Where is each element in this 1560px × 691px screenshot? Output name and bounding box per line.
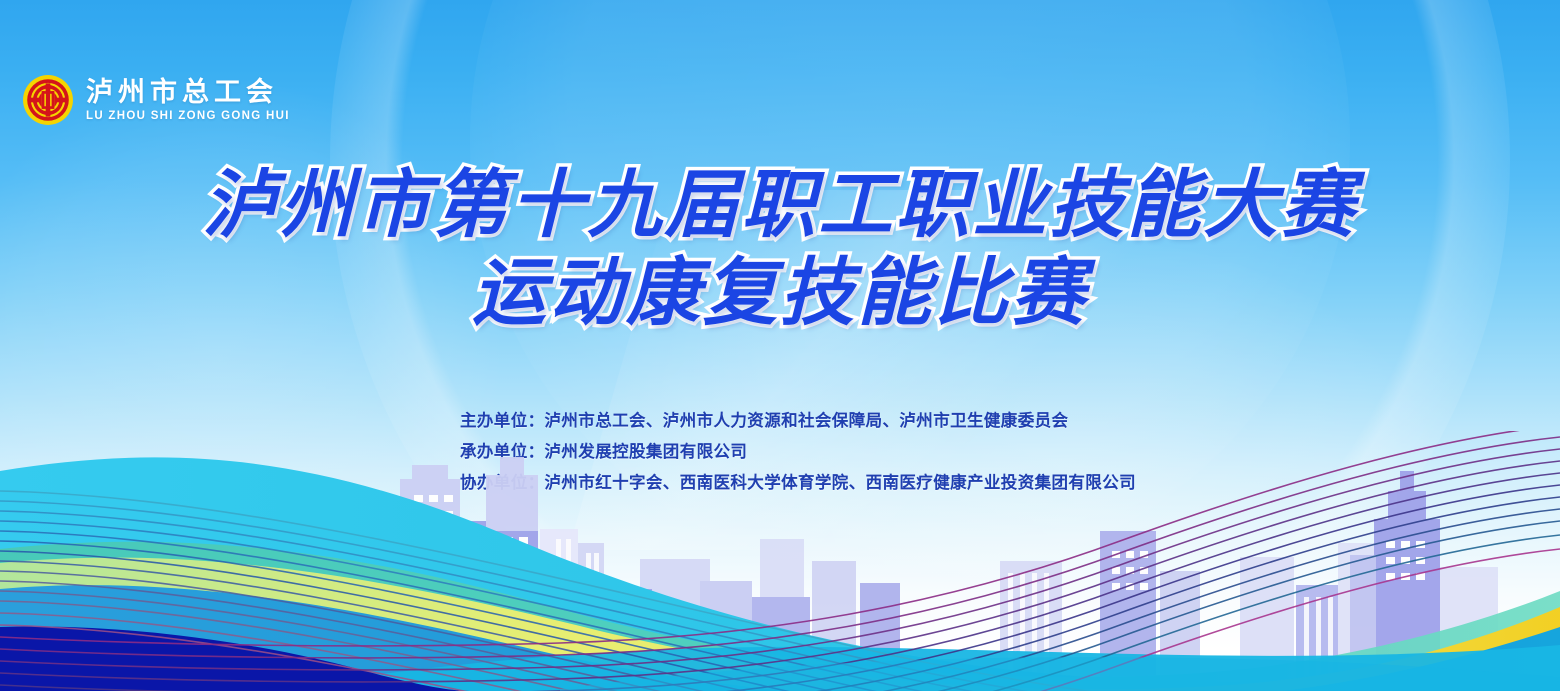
union-logo: 泸州市总工会 LU ZHOU SHI ZONG GONG HUI: [22, 74, 290, 126]
main-title-line-2: 运动康复技能比赛: [0, 256, 1560, 330]
logo-name-cn: 泸州市总工会: [86, 77, 290, 108]
main-title-line-1: 泸州市第十九届职工职业技能大赛: [0, 168, 1560, 242]
acftu-emblem-icon: [22, 74, 74, 126]
title-block: 泸州市第十九届职工职业技能大赛 运动康复技能比赛: [0, 168, 1560, 330]
event-banner: 泸州市总工会 LU ZHOU SHI ZONG GONG HUI 泸州市第十九届…: [0, 0, 1560, 691]
skyline-and-waves-graphic: [0, 431, 1560, 691]
bottom-artwork: [0, 431, 1560, 691]
logo-name-pinyin: LU ZHOU SHI ZONG GONG HUI: [86, 110, 290, 124]
